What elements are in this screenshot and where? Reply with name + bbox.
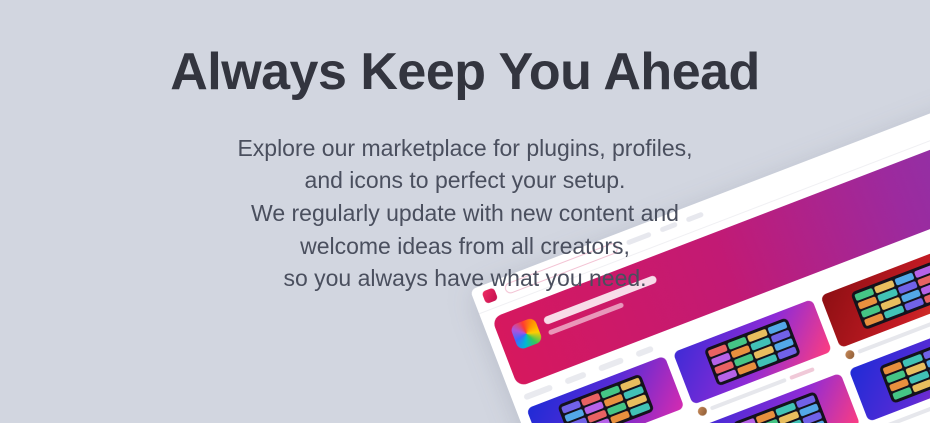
subtitle-line: welcome ideas from all creators, (0, 230, 930, 263)
subtitle-line: and icons to perfect your setup. (0, 164, 930, 197)
mockup-filter-chip (564, 371, 587, 384)
mockup-card-author-avatar (697, 405, 709, 417)
page-subtitle: Explore our marketplace for plugins, pro… (0, 132, 930, 295)
rainbow-app-icon (510, 317, 544, 351)
subtitle-line: so you always have what you need. (0, 262, 930, 295)
page-title: Always Keep You Ahead (0, 45, 930, 100)
copy-block: Always Keep You Ahead Explore our market… (0, 0, 930, 295)
mockup-app-icon (922, 346, 930, 360)
mockup-app-icon (736, 418, 756, 423)
promo-banner: Always Keep You Ahead Explore our market… (0, 0, 930, 423)
subtitle-line: Explore our marketplace for plugins, pro… (0, 132, 930, 165)
mockup-card-price (789, 367, 815, 380)
subtitle-line: We regularly update with new content and (0, 197, 930, 230)
mockup-card-author-avatar (844, 349, 856, 361)
mockup-filter-chip (635, 345, 654, 357)
